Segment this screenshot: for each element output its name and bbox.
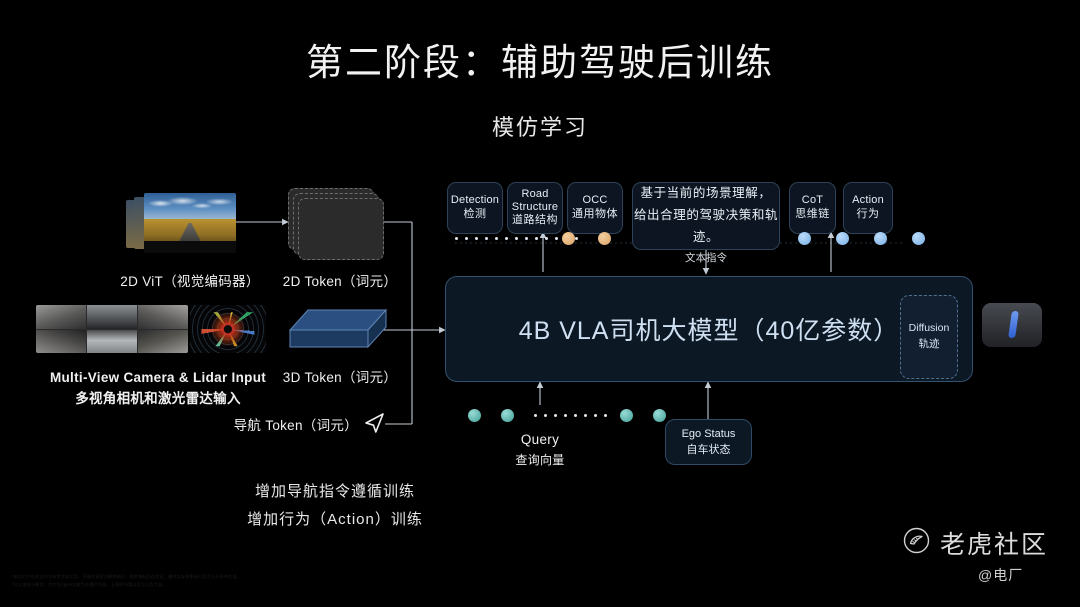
query-label-en: Query [480, 430, 600, 451]
page-title: 第二阶段：辅助驾驶后训练 [0, 32, 1080, 86]
task-box-detection[interactable]: Detection 检测 [447, 182, 503, 234]
token-3d-caption: 3D Token（词元） [215, 368, 465, 389]
token-dot [475, 237, 478, 240]
diffusion-label-en: Diffusion [909, 321, 950, 337]
fine-print-line-1: *本幻灯片仅供业内与技术交流之用，不做代表官方最终结论，相关指标仍在验证，最终实… [12, 573, 352, 581]
token-dot [505, 237, 508, 240]
fine-print-line-2: *以上描述与模型、芯片及Agent功能为非量产功能，上线时间需以官方公告为准。 [12, 581, 352, 589]
task-box-occ[interactable]: OCC 通用物体 [567, 182, 623, 234]
prompt-box[interactable]: 基于当前的场景理解， 给出合理的驾驶决策和轨迹。 [632, 182, 780, 250]
query-dot [534, 414, 537, 417]
query-dot [594, 414, 597, 417]
task-box-road-structure[interactable]: Road Structure 道路结构 [507, 182, 563, 234]
camera-view [36, 305, 86, 329]
prompt-line-1: 基于当前的场景理解， [640, 183, 771, 205]
token-2d-caption: 2D Token（词元） [215, 272, 465, 293]
trajectory-preview-image [982, 303, 1042, 347]
token-dot [555, 237, 558, 240]
token-dot [515, 237, 518, 240]
query-dot [653, 409, 666, 422]
camera-view [36, 330, 86, 354]
token-dot [798, 232, 811, 245]
task-label-en: CoT [802, 194, 823, 208]
diffusion-label-cn: 轨迹 [919, 337, 940, 353]
query-dot [584, 414, 587, 417]
ego-status-box[interactable]: Ego Status 自车状态 [665, 419, 752, 465]
task-label-en: OCC [582, 194, 607, 208]
training-note-2: 增加行为（Action）训练 [170, 506, 500, 535]
lidar-core [201, 312, 254, 346]
query-token-dots [468, 409, 686, 422]
task-label-en: Road Structure [508, 188, 562, 213]
token-dot [535, 237, 538, 240]
camera-view [138, 330, 188, 354]
page-subtitle: 模仿学习 [0, 110, 1080, 142]
vla-model-bar[interactable]: 4B VLA司机大模型（40亿参数） Diffusion 轨迹 [445, 276, 973, 382]
query-label-cn: 查询向量 [480, 451, 600, 470]
query-dot [620, 409, 633, 422]
task-label-cn: 行为 [857, 208, 880, 222]
token-dot [836, 232, 849, 245]
query-dot [501, 409, 514, 422]
training-note-1: 增加导航指令遵循训练 [170, 478, 500, 507]
task-box-action[interactable]: Action 行为 [843, 182, 893, 234]
query-dot [604, 414, 607, 417]
token-dot [562, 232, 575, 245]
query-dot [574, 414, 577, 417]
text-instruction-label: 文本指令 [674, 250, 738, 265]
token-dot [525, 237, 528, 240]
watermark: 老虎社区 [903, 525, 1048, 561]
token-dot [465, 237, 468, 240]
query-caption: Query 查询向量 [480, 430, 600, 470]
task-label-cn: 道路结构 [512, 214, 558, 228]
query-dot [544, 414, 547, 417]
tiger-community-logo-icon [903, 527, 930, 559]
vignette-bottom [144, 241, 236, 253]
diffusion-module[interactable]: Diffusion 轨迹 [900, 295, 958, 379]
token-dot [874, 232, 887, 245]
token-dot [495, 237, 498, 240]
task-label-en: Action [852, 194, 884, 208]
slide-canvas: 第二阶段：辅助驾驶后训练 模仿学习 [0, 0, 1080, 607]
navigation-arrow-icon [363, 411, 387, 440]
nav-token-caption: 导航 Token（词元） [198, 416, 358, 437]
output-token-dots-blue [798, 232, 950, 245]
query-dot [468, 409, 481, 422]
panorama-input-image [144, 193, 236, 253]
token-dot [598, 232, 611, 245]
ego-status-label-cn: 自车状态 [687, 442, 731, 459]
ego-status-label-en: Ego Status [682, 426, 736, 443]
token-2d-stack [288, 188, 384, 260]
task-label-cn: 检测 [464, 208, 487, 222]
watermark-name: 老虎社区 [940, 525, 1048, 561]
multiview-camera-input-image [36, 305, 188, 353]
prompt-line-2: 给出合理的驾驶决策和轨迹。 [633, 205, 779, 249]
clouds [144, 197, 236, 214]
camera-view [87, 305, 137, 329]
lidar-point-cloud-image [190, 305, 266, 353]
camera-view [87, 330, 137, 354]
vla-model-label: 4B VLA司机大模型（40亿参数） [519, 311, 900, 347]
output-token-dots-tan [562, 232, 634, 245]
token-dot [545, 237, 548, 240]
token-dot [912, 232, 925, 245]
token-dot [485, 237, 488, 240]
task-label-cn: 思维链 [795, 208, 830, 222]
token-3d-block [286, 306, 390, 354]
query-dot [564, 414, 567, 417]
task-label-cn: 通用物体 [572, 208, 618, 222]
token-card-front [298, 198, 384, 260]
multiview-caption-cn: 多视角相机和激光雷达输入 [22, 389, 294, 410]
camera-view [138, 305, 188, 329]
task-box-cot[interactable]: CoT 思维链 [789, 182, 836, 234]
watermark-handle: @电厂 [978, 565, 1023, 585]
token-dot [455, 237, 458, 240]
fine-print: *本幻灯片仅供业内与技术交流之用，不做代表官方最终结论，相关指标仍在验证，最终实… [12, 573, 352, 589]
query-dot [554, 414, 557, 417]
task-label-en: Detection [451, 194, 499, 208]
